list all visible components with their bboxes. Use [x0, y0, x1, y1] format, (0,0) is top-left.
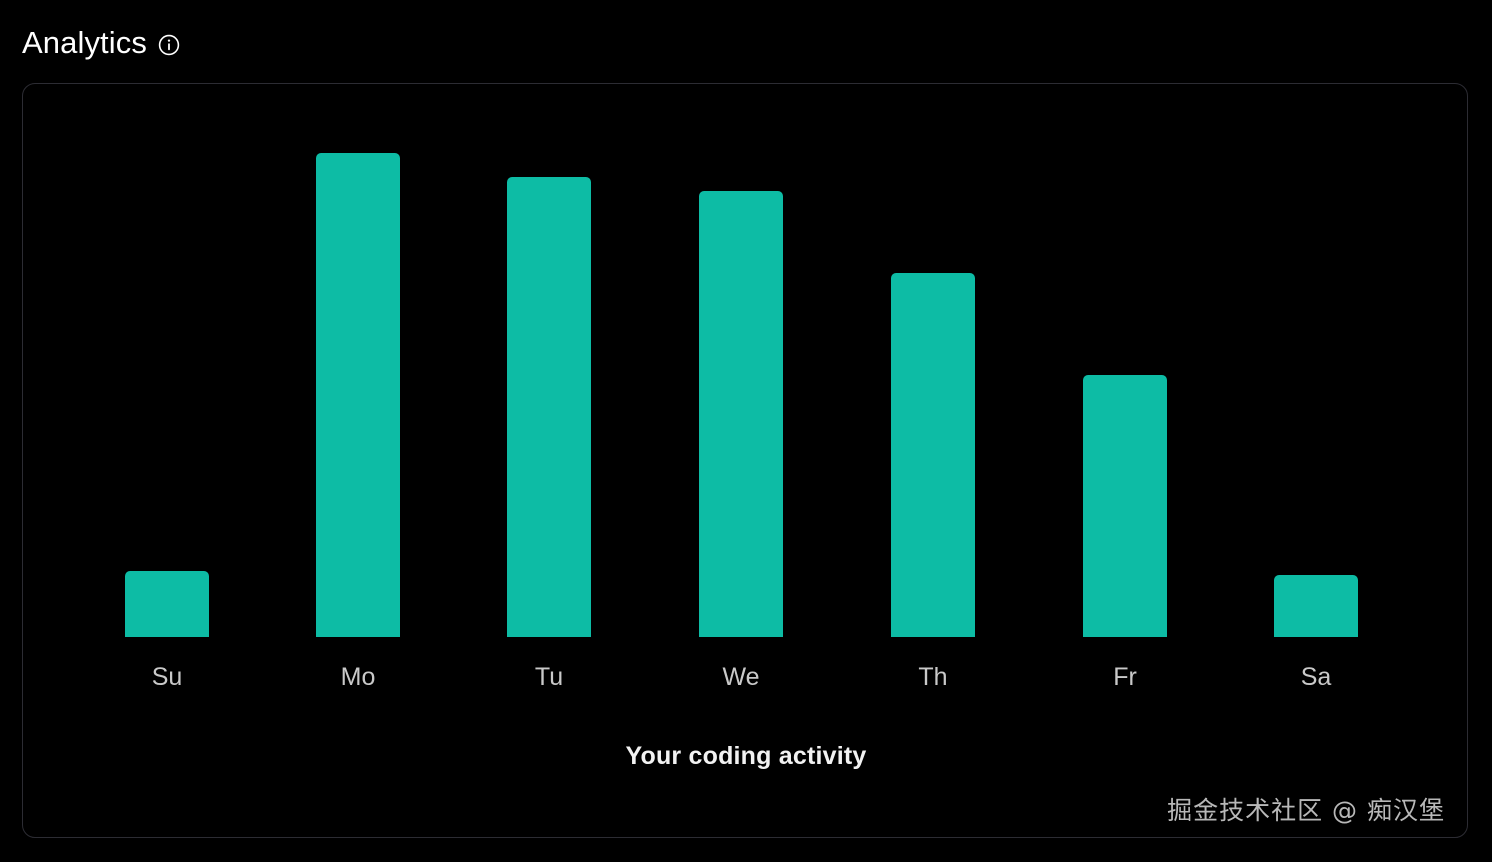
- bar-label: Mo: [316, 662, 400, 692]
- page-header: Analytics: [22, 22, 180, 64]
- info-circle-icon[interactable]: [158, 34, 180, 56]
- bar-label: Tu: [507, 662, 591, 692]
- bar-group-fr[interactable]: Fr: [1083, 84, 1167, 838]
- bar-group-th[interactable]: Th: [891, 84, 975, 838]
- coding-activity-bar-chart: SuMoTuWeThFrSa: [23, 84, 1468, 838]
- bar[interactable]: [1083, 375, 1167, 637]
- watermark: 掘金技术社区 @ 痴汉堡: [1167, 791, 1445, 827]
- bar[interactable]: [507, 177, 591, 637]
- bar-group-we[interactable]: We: [699, 84, 783, 838]
- app-root: Analytics SuMoTuWeThFrSa Your coding act…: [0, 0, 1492, 862]
- analytics-card: SuMoTuWeThFrSa Your coding activity 掘金技术…: [22, 83, 1468, 838]
- bar-group-mo[interactable]: Mo: [316, 84, 400, 838]
- bar-label: We: [699, 662, 783, 692]
- chart-caption: Your coding activity: [23, 742, 1468, 771]
- bar-label: Su: [125, 662, 209, 692]
- bar[interactable]: [316, 153, 400, 637]
- bar[interactable]: [1274, 575, 1358, 637]
- bar[interactable]: [125, 571, 209, 637]
- bar-group-tu[interactable]: Tu: [507, 84, 591, 838]
- bar-label: Th: [891, 662, 975, 692]
- bar[interactable]: [891, 273, 975, 637]
- page-title: Analytics: [22, 22, 147, 64]
- bar[interactable]: [699, 191, 783, 637]
- bar-label: Sa: [1274, 662, 1358, 692]
- bar-group-sa[interactable]: Sa: [1274, 84, 1358, 838]
- bar-label: Fr: [1083, 662, 1167, 692]
- bar-group-su[interactable]: Su: [125, 84, 209, 838]
